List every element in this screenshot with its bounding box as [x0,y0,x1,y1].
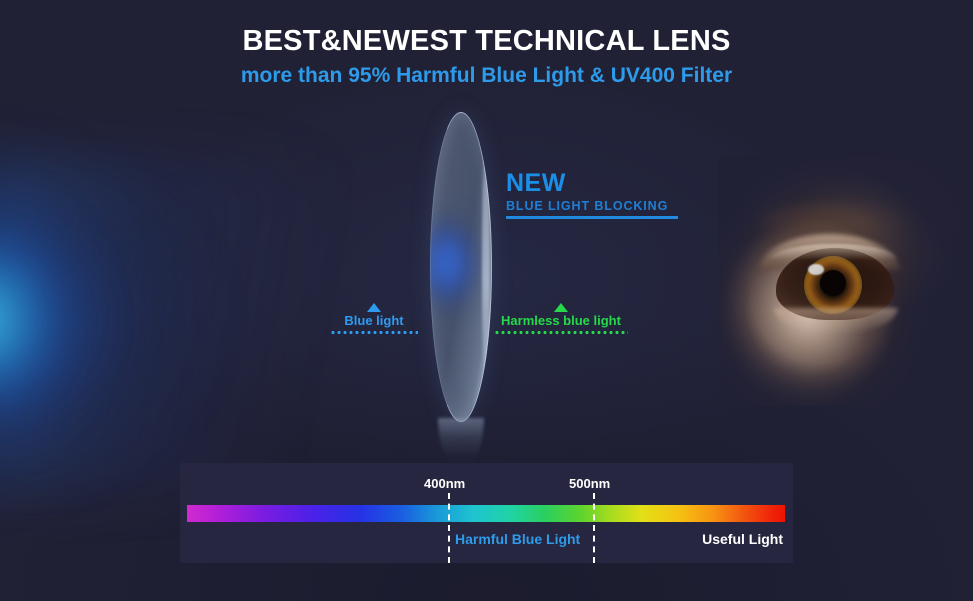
marker-harmless-blue-light: Harmless blue light [494,303,628,334]
ellipse-lens-graphic [430,112,492,422]
spectrum-panel: 400nm 500nm Harmful Blue Light Useful Li… [180,463,793,563]
page-title: BEST&NEWEST TECHNICAL LENS [0,24,973,58]
new-badge-subtitle: BLUE LIGHT BLOCKING [506,199,678,213]
spectrum-gradient-bar [187,505,785,522]
spectrum-zone-label-harmful: Harmful Blue Light [455,531,580,547]
new-badge-underline [506,216,678,219]
human-eye-photo [718,156,968,406]
spectrum-tick-label-400nm: 400nm [424,476,465,491]
blue-light-beam-graphic [0,120,360,520]
marker-blue-light-dotted-rule [330,331,418,334]
marker-harmless-blue-light-label: Harmless blue light [494,314,628,329]
poster-canvas: BEST&NEWEST TECHNICAL LENS more than 95%… [0,0,973,601]
marker-blue-light-label: Blue light [330,314,418,329]
lens-rim [430,112,492,422]
spectrum-zone-label-useful: Useful Light [702,531,783,547]
header: BEST&NEWEST TECHNICAL LENS more than 95%… [0,24,973,88]
new-badge-word: NEW [506,170,678,196]
triangle-up-icon [367,303,381,312]
triangle-up-icon [554,303,568,312]
marker-harmless-blue-light-dotted-rule [494,331,628,334]
spectrum-tick-400nm [448,493,450,563]
beam-tail-glow [0,160,380,490]
page-subtitle: more than 95% Harmful Blue Light & UV400… [0,63,973,88]
spectrum-tick-500nm [593,493,595,563]
new-badge: NEW BLUE LIGHT BLOCKING [506,170,678,219]
spectrum-tick-label-500nm: 500nm [569,476,610,491]
marker-blue-light: Blue light [330,303,418,334]
eye-vignette-mask [718,156,968,406]
beam-spread-glow [0,120,360,520]
beam-core-glow [0,170,190,470]
